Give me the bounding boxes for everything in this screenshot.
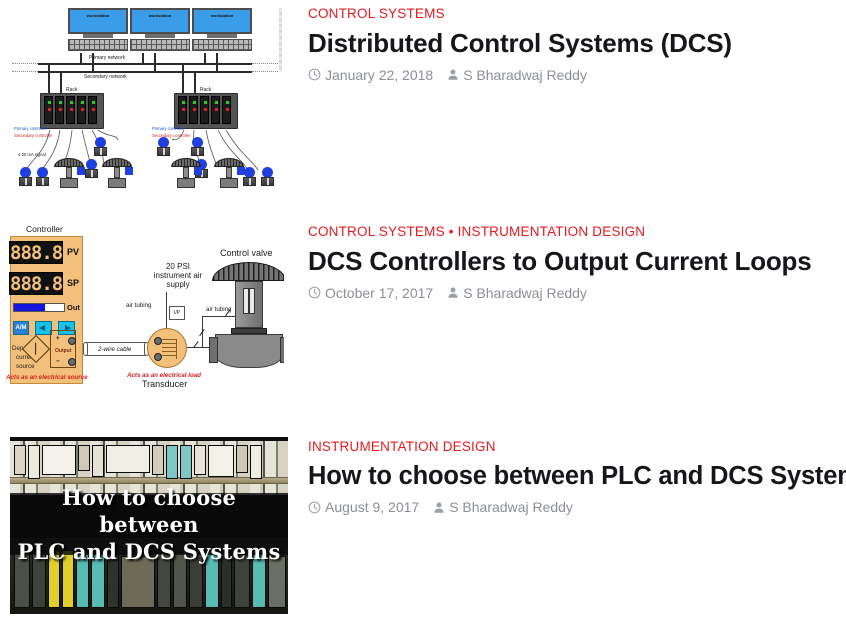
title-overlay-text: How to choose between PLC and DCS System…: [10, 493, 288, 555]
auto-manual-button[interactable]: A/M: [13, 321, 29, 335]
rack-right: [174, 93, 238, 129]
overlay-line-2: PLC and DCS Systems: [18, 538, 281, 565]
sp-display: 888.8: [9, 272, 63, 295]
secondary-controller-annotation-left: Secondary controller: [14, 133, 52, 138]
air-supply-label: 20 PSI instrument air supply: [148, 262, 208, 289]
air-tubing-left-label: air tubing: [126, 302, 151, 309]
transducer-symbol: [147, 328, 187, 368]
terminal-blocks-top: [14, 445, 284, 479]
controller-label: Controller: [26, 224, 63, 234]
field-valve-2: [102, 158, 132, 188]
category-link[interactable]: INSTRUMENTATION DESIGN: [308, 439, 496, 454]
post-author-text: S Bharadwaj Reddy: [463, 284, 587, 302]
user-icon: [447, 286, 459, 299]
minus-terminal-label: −: [56, 358, 60, 365]
sp-label: SP: [67, 278, 79, 288]
air-supply-line: [166, 292, 167, 330]
post-title[interactable]: Distributed Control Systems (DCS): [308, 28, 846, 59]
plc-dcs-panel-photo: How to choose between PLC and DCS System…: [10, 437, 288, 614]
post-list: workstation workstation workstation: [0, 0, 846, 631]
rack-left: [40, 93, 104, 129]
controller-current-loop-image: Controller 888.8 PV 888.8 SP Out A/M Dep…: [6, 224, 284, 389]
clock-icon: [308, 68, 321, 81]
category-link[interactable]: CONTROL SYSTEMS: [308, 6, 445, 21]
post-item[interactable]: workstation workstation workstation: [0, 0, 846, 218]
watermark-strip: [279, 8, 282, 72]
pv-display: 888.8: [9, 241, 63, 264]
post-text-column: INSTRUMENTATION DESIGN How to choose bet…: [290, 433, 846, 516]
post-thumbnail-link[interactable]: workstation workstation workstation: [0, 0, 290, 192]
secondary-network-label: Secondary network: [84, 74, 127, 80]
pv-label: PV: [67, 247, 79, 257]
output-bargraph: [13, 303, 65, 312]
post-date: October 17, 2017: [308, 284, 433, 302]
post-date: August 9, 2017: [308, 498, 419, 516]
post-author-text: S Bharadwaj Reddy: [449, 498, 573, 516]
post-item[interactable]: Controller 888.8 PV 888.8 SP Out A/M Dep…: [0, 218, 846, 433]
post-meta: January 22, 2018 S Bharadwaj Reddy: [308, 66, 846, 84]
secondary-network-bus: [38, 71, 252, 73]
control-valve-label: Control valve: [220, 248, 273, 258]
field-valve-4: [214, 158, 244, 188]
rack-right-label: Rack: [200, 87, 211, 93]
post-meta: August 9, 2017 S Bharadwaj Reddy: [308, 498, 846, 516]
cable-label: 2-wire cable: [98, 346, 131, 353]
workstation-2-label: workstation: [132, 10, 188, 18]
post-text-column: CONTROL SYSTEMS • INSTRUMENTATION DESIGN…: [290, 218, 846, 302]
post-date: January 22, 2018: [308, 66, 433, 84]
post-title[interactable]: DCS Controllers to Output Current Loops: [308, 246, 846, 277]
user-icon: [447, 68, 459, 81]
rack-left-label: Rack: [66, 87, 77, 93]
workstation-3-label: workstation: [194, 10, 250, 18]
post-category-line[interactable]: CONTROL SYSTEMS: [308, 6, 846, 22]
field-valve-3: [171, 158, 201, 188]
dcs-network-diagram-image: workstation workstation workstation: [6, 4, 284, 192]
out-label: Out: [67, 303, 80, 312]
primary-controller-annotation-left: Primary controller: [14, 126, 47, 131]
post-item[interactable]: How to choose between PLC and DCS System…: [0, 433, 846, 631]
post-author: S Bharadwaj Reddy: [433, 498, 573, 516]
source-label-line3: source: [16, 363, 35, 370]
clock-icon: [308, 501, 321, 514]
post-text-column: CONTROL SYSTEMS Distributed Control Syst…: [290, 0, 846, 84]
output-terminal-label: Output: [55, 348, 71, 354]
workstation-1-label: workstation: [70, 10, 126, 18]
workstation-3: workstation: [192, 8, 252, 51]
post-author: S Bharadwaj Reddy: [447, 66, 587, 84]
category-link[interactable]: CONTROL SYSTEMS • INSTRUMENTATION DESIGN: [308, 224, 645, 239]
post-date-text: October 17, 2017: [325, 284, 433, 302]
clock-icon: [308, 286, 321, 299]
field-valve-1: [54, 158, 84, 188]
workstation-1: workstation: [68, 8, 128, 51]
primary-controller-annotation-right: Primary controller: [152, 126, 185, 131]
post-thumbnail-link[interactable]: How to choose between PLC and DCS System…: [0, 433, 290, 614]
user-icon: [433, 501, 445, 514]
transducer-label: Transducer: [142, 379, 187, 389]
post-title[interactable]: How to choose between PLC and DCS System…: [308, 461, 846, 491]
secondary-controller-annotation-right: Secondary controller: [152, 133, 190, 138]
post-date-text: January 22, 2018: [325, 66, 433, 84]
terminal-positive: [68, 337, 76, 345]
source-note: Acts as an electrical source: [6, 374, 88, 381]
workstation-2: workstation: [130, 8, 190, 51]
post-author-text: S Bharadwaj Reddy: [463, 66, 587, 84]
terminal-negative: [68, 358, 76, 366]
ip-label: I/P: [174, 310, 180, 316]
post-category-line[interactable]: INSTRUMENTATION DESIGN: [308, 439, 846, 455]
post-author: S Bharadwaj Reddy: [447, 284, 587, 302]
post-category-line[interactable]: CONTROL SYSTEMS • INSTRUMENTATION DESIGN: [308, 224, 846, 240]
plus-terminal-label: +: [56, 335, 60, 342]
control-valve-figure: [212, 262, 284, 368]
load-note: Acts as an electrical load: [127, 372, 201, 379]
primary-network-bus: [38, 63, 252, 65]
overlay-line-1: How to choose between: [10, 484, 288, 538]
post-thumbnail-link[interactable]: Controller 888.8 PV 888.8 SP Out A/M Dep…: [0, 218, 290, 389]
ip-converter-box: I/P: [169, 306, 185, 320]
primary-network-label: Primary network: [89, 55, 125, 61]
post-meta: October 17, 2017 S Bharadwaj Reddy: [308, 284, 846, 302]
post-date-text: August 9, 2017: [325, 498, 419, 516]
signal-annotation: 4-20 mA signal: [18, 152, 46, 157]
